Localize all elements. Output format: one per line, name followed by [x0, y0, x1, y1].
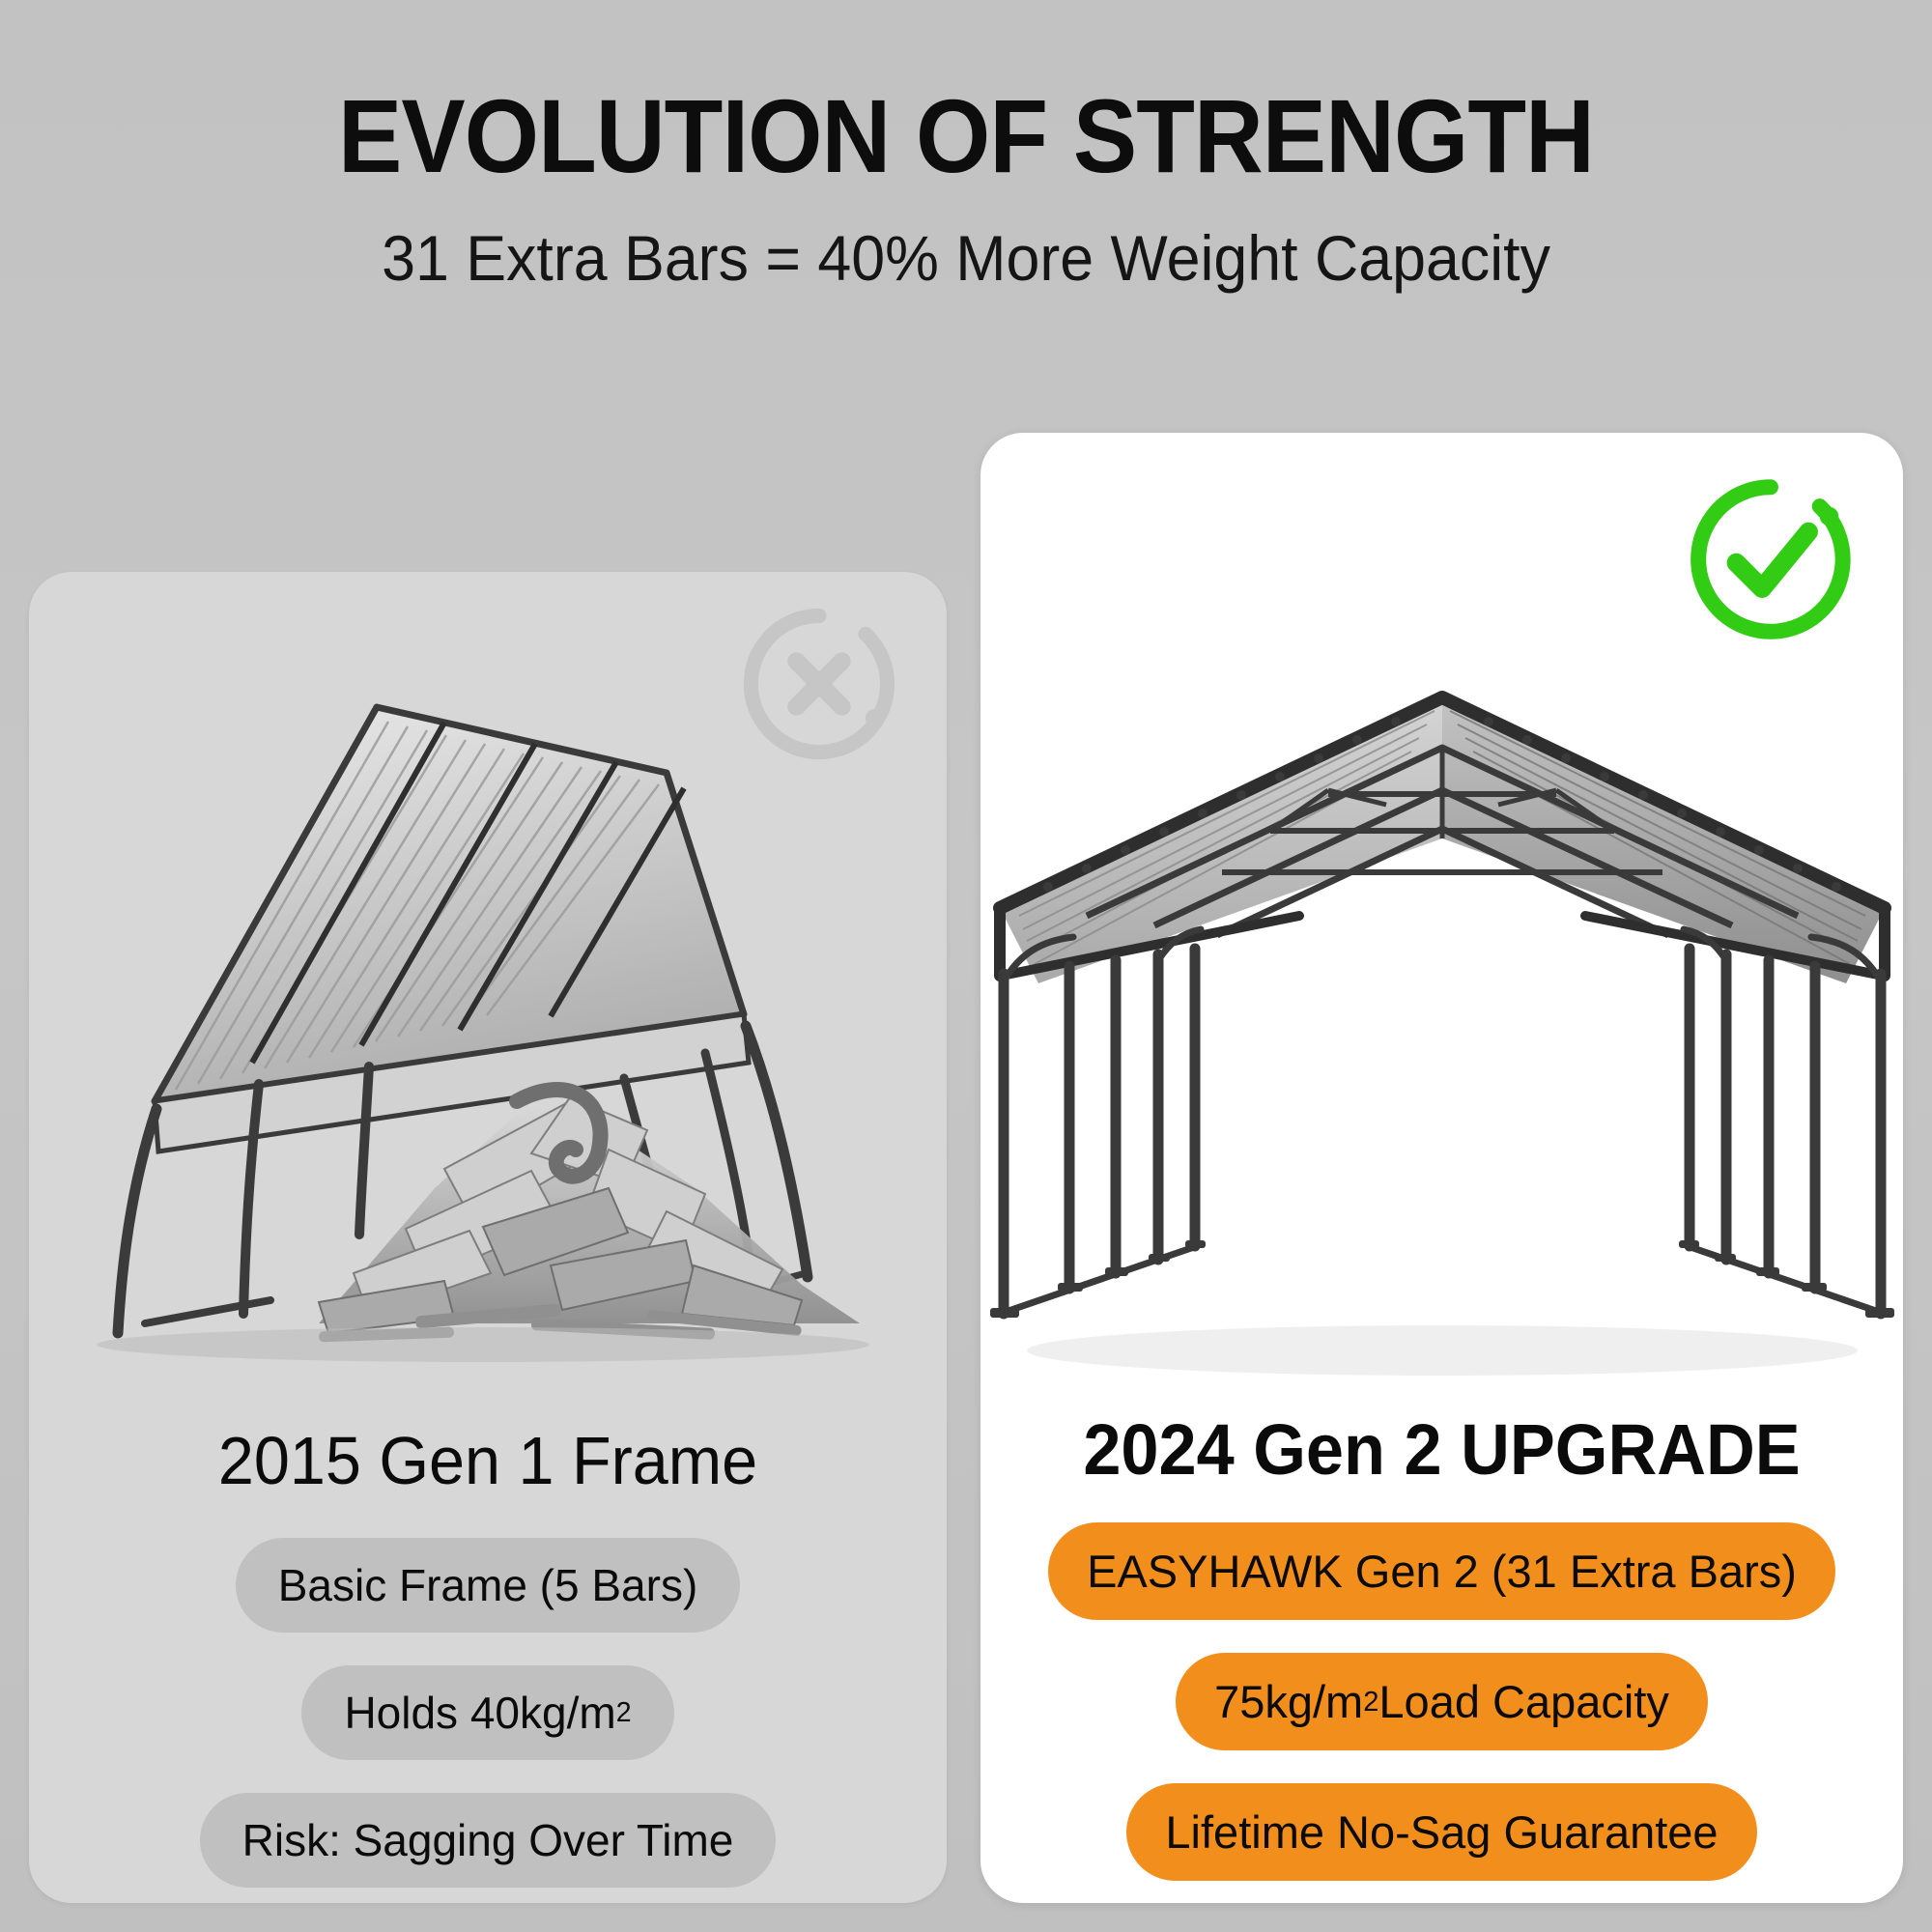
panel-gen1-old: 2015 Gen 1 Frame Basic Frame (5 Bars) Ho… [29, 572, 947, 1903]
badge-list-gen2: EASYHAWK Gen 2 (31 Extra Bars) 75kg/m2 L… [980, 1522, 1903, 1881]
badge-text-before: Holds 40kg/m [344, 1690, 615, 1735]
panel-gen2-new: 2024 Gen 2 UPGRADE EASYHAWK Gen 2 (31 Ex… [980, 433, 1903, 1903]
badge-text-after: Load Capacity [1378, 1679, 1668, 1724]
panel-caption-gen2: 2024 Gen 2 UPGRADE [1004, 1408, 1880, 1491]
badge-no-sag-guarantee: Lifetime No-Sag Guarantee [1126, 1783, 1756, 1881]
badge-load-capacity-new: 75kg/m2 Load Capacity [1176, 1653, 1708, 1750]
badge-load-capacity-old: Holds 40kg/m2 [301, 1665, 673, 1760]
badge-easyhawk-gen2: EASYHAWK Gen 2 (31 Extra Bars) [1048, 1522, 1835, 1620]
gen2-metal-carport-illustration [980, 597, 1903, 1447]
badge-basic-frame: Basic Frame (5 Bars) [236, 1538, 741, 1633]
panel-caption-gen1: 2015 Gen 1 Frame [52, 1422, 924, 1499]
badge-risk-sagging: Risk: Sagging Over Time [200, 1793, 777, 1888]
collapsed-carport-frame-illustration [29, 647, 947, 1381]
badge-text-before: 75kg/m [1214, 1679, 1363, 1724]
panels-container: 2015 Gen 1 Frame Basic Frame (5 Bars) Ho… [0, 0, 1932, 1932]
badge-list-gen1: Basic Frame (5 Bars) Holds 40kg/m2 Risk:… [29, 1538, 947, 1888]
comparison-infographic: EVOLUTION OF STRENGTH 31 Extra Bars = 40… [0, 0, 1932, 1932]
